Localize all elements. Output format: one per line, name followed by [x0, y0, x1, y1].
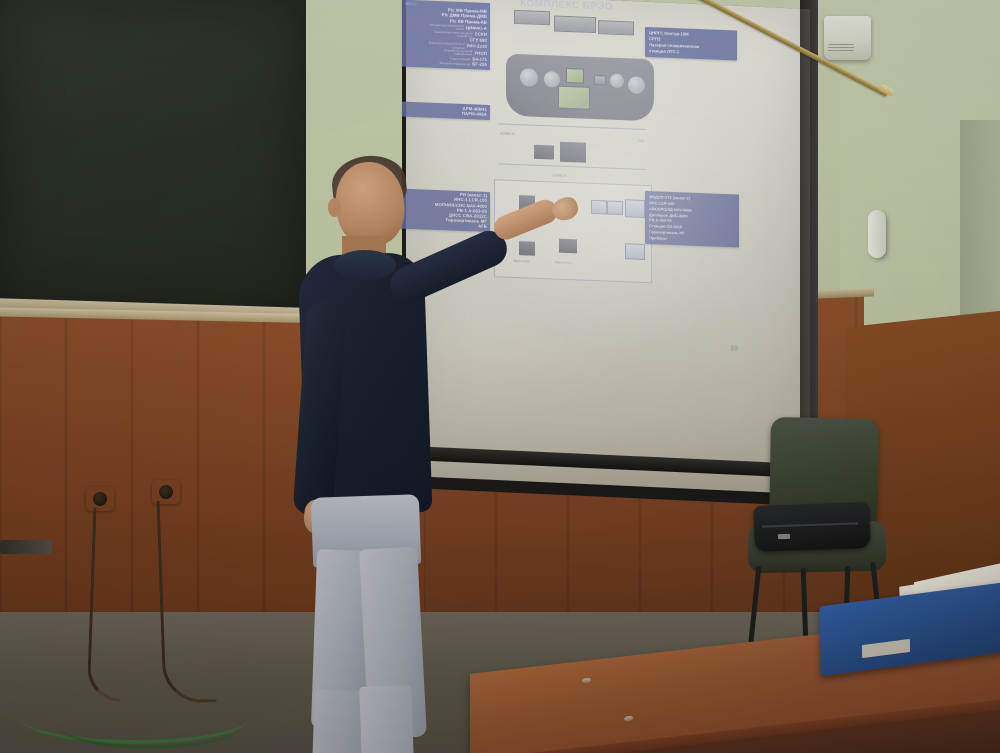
- power-cable-2: [156, 499, 216, 704]
- subsystem-box: [607, 200, 623, 215]
- power-cable-1: [87, 507, 127, 701]
- row-label: ЦИФАС-А: [466, 26, 487, 31]
- subsystem-node: [559, 239, 577, 254]
- diagram-label-ues: УЭС: [638, 139, 645, 143]
- row-label: ССКИ: [475, 33, 487, 38]
- switch-block: [594, 75, 606, 85]
- socket-hole: [159, 485, 173, 499]
- diagram-label-suoms: СУОМС-Б: [552, 173, 567, 178]
- wooden-desk[interactable]: [470, 620, 1000, 753]
- slide-title: КОМПЛЕКС БРЭО: [520, 0, 720, 17]
- panel-row: Речевой информаторБГ-226: [402, 60, 490, 68]
- door-frame: [960, 120, 1000, 340]
- ear: [328, 198, 341, 217]
- subsystem-box: [625, 243, 645, 260]
- slide-number: 10: [730, 345, 738, 352]
- overhead-box-3: [598, 20, 634, 35]
- row-label: БГ-226: [472, 63, 487, 68]
- mfd-display-large: [558, 86, 590, 110]
- chalkboard: [0, 0, 306, 316]
- turtleneck-collar: [334, 250, 396, 280]
- left-shin: [309, 689, 365, 753]
- subsystem-label-3: ПВИ-УТС-1: [555, 261, 572, 266]
- right-shin: [359, 685, 417, 753]
- slide-panel-top-left: КСС-17 Р/с МВ Прима-МВ Р/с ДМВ Прима-ДМВ…: [402, 0, 490, 70]
- subsystem-label-2: ПВИ-1-423: [513, 259, 529, 264]
- diagram-label-ksoms: КСОМС-Б: [500, 131, 515, 136]
- slide-panel-mid-left: АРМ-406Н1 ПАРМ-406А: [402, 102, 490, 121]
- air-conditioner-vent: [828, 44, 854, 52]
- overhead-box-1: [514, 10, 550, 25]
- row-label: ПАРМ-406А: [462, 112, 487, 117]
- bag-tag: [778, 534, 790, 539]
- node-block-2: [560, 142, 586, 163]
- floor-cable-2: [60, 705, 240, 749]
- node-block-1: [534, 145, 554, 160]
- mfd-display: [566, 68, 584, 84]
- slide-panel-bottom-right: МВДОП-УТ1 (канал 2) ИНС LCR-100 АРК/СРО/…: [645, 191, 739, 247]
- presenter: [280, 150, 510, 750]
- bus-line-1: [498, 123, 646, 129]
- floor-object-left: [0, 540, 52, 554]
- subsystem-box: [625, 199, 645, 218]
- bus-line-2: [498, 163, 646, 169]
- right-arm-raised: [385, 225, 513, 308]
- cockpit-panel-graphic: [506, 54, 654, 122]
- gauge-icon: [628, 76, 645, 94]
- subsystem-node: [519, 241, 535, 256]
- socket-hole: [93, 492, 107, 506]
- classroom-scene: 00013T0357 КОМПЛЕКС БРЭО КСОМС-Б СУОМС-Б: [0, 0, 1000, 753]
- gauge-icon: [610, 74, 624, 89]
- subsystem-box: [591, 200, 607, 215]
- gauge-icon: [520, 68, 538, 87]
- overhead-box-2: [554, 15, 596, 33]
- wall-light-icon: [868, 210, 886, 258]
- row-label: УИОП: [474, 52, 487, 57]
- slide-panel-top-right: ЦНРГС Контур-10М СРПЗ Лазерно-телевизион…: [645, 27, 737, 61]
- row-prefix: Речевой информатор: [440, 62, 471, 66]
